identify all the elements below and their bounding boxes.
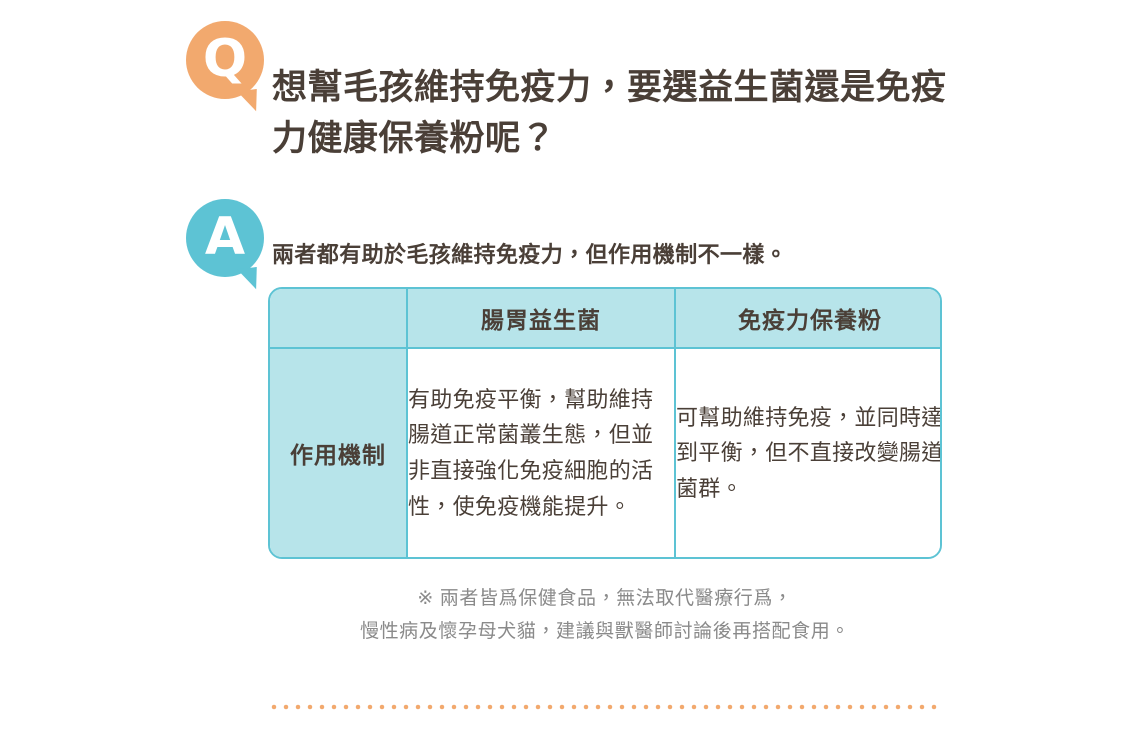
table-header-row: 腸胃益生菌 免疫力保養粉 — [270, 289, 942, 348]
table-row: 作用機制 有助免疫平衡，幫助維持腸道正常菌叢生態，但並非直接強化免疫細胞的活性，… — [270, 348, 942, 557]
table-corner-cell — [270, 289, 407, 348]
footnote-line-1: ※ 兩者皆爲保健食品，無法取代醫療行爲， — [268, 582, 942, 615]
speech-bubble-a-icon: A — [186, 199, 264, 277]
cell-probiotic-mechanism: 有助免疫平衡，幫助維持腸道正常菌叢生態，但並非直接強化免疫細胞的活性，使免疫機能… — [407, 348, 675, 557]
faq-page: Q 想幫毛孩維持免疫力，要選益生菌還是免疫力健康保養粉呢？ A 兩者都有助於毛孩… — [0, 0, 1137, 742]
a-letter: A — [205, 211, 245, 263]
footnote-line-2: 慢性病及懷孕母犬貓，建議與獸醫師討論後再搭配食用。 — [268, 615, 942, 648]
comparison-table: 腸胃益生菌 免疫力保養粉 作用機制 有助免疫平衡，幫助維持腸道正常菌叢生態，但並… — [268, 287, 942, 559]
column-header-probiotic: 腸胃益生菌 — [407, 289, 675, 348]
column-header-immune-powder: 免疫力保養粉 — [675, 289, 942, 348]
answer-lead-text: 兩者都有助於毛孩維持免疫力，但作用機制不一樣。 — [272, 240, 972, 271]
q-letter: Q — [203, 33, 247, 85]
question-title: 想幫毛孩維持免疫力，要選益生菌還是免疫力健康保養粉呢？ — [272, 63, 972, 165]
speech-bubble-q-icon: Q — [186, 21, 264, 99]
bubble-tail-a-icon — [237, 267, 259, 291]
row-label-mechanism: 作用機制 — [270, 348, 407, 557]
cell-immune-powder-mechanism: 可幫助維持免疫，並同時達到平衡，但不直接改變腸道菌群。 — [675, 348, 942, 557]
dotted-divider — [268, 704, 942, 710]
bubble-tail-q-icon — [237, 89, 259, 113]
footnote: ※ 兩者皆爲保健食品，無法取代醫療行爲， 慢性病及懷孕母犬貓，建議與獸醫師討論後… — [268, 582, 942, 649]
